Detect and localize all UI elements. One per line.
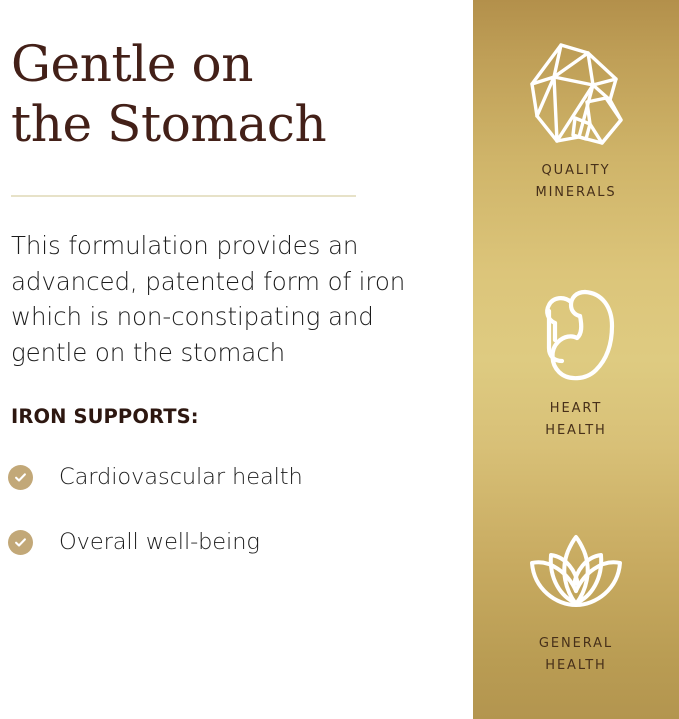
benefit-list: Cardiovascular health Overall well-being: [8, 461, 428, 591]
product-benefits-panel: Gentle on the Stomach This formulation p…: [0, 0, 679, 719]
feature-general-health: GENERAL HEALTH: [473, 513, 679, 677]
page-title: Gentle on the Stomach: [11, 34, 431, 154]
feature-quality-minerals: QUALITY MINERALS: [473, 40, 679, 204]
check-circle-icon: [8, 530, 33, 555]
feature-caption: HEART HEALTH: [545, 398, 606, 442]
feature-caption: QUALITY MINERALS: [535, 160, 616, 204]
body-description: This formulation provides an advanced, p…: [11, 228, 411, 370]
check-circle-icon: [8, 465, 33, 490]
crystal-minerals-icon: [524, 40, 628, 148]
title-divider-rule: [11, 195, 356, 197]
list-item: Overall well-being: [8, 526, 428, 558]
feature-heart-health: HEART HEALTH: [473, 278, 679, 442]
feature-caption: GENERAL HEALTH: [539, 633, 613, 677]
gold-feature-column: QUALITY MINERALS: [473, 0, 679, 719]
anatomical-heart-icon: [524, 278, 628, 386]
list-item: Cardiovascular health: [8, 461, 428, 493]
left-content-column: Gentle on the Stomach This formulation p…: [0, 0, 473, 719]
lotus-flower-icon: [524, 513, 628, 621]
iron-supports-heading: IRON SUPPORTS:: [11, 405, 199, 429]
list-item-label: Overall well-being: [59, 528, 260, 556]
list-item-label: Cardiovascular health: [59, 463, 303, 491]
